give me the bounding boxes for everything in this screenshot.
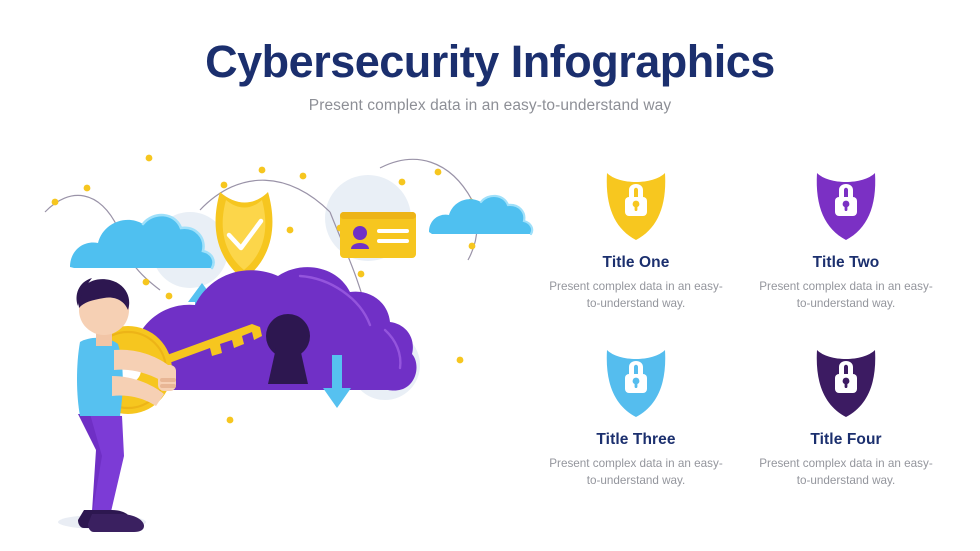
- feature-card-description: Present complex data in an easy-to-under…: [547, 456, 725, 490]
- feature-card-title: Title Two: [746, 254, 946, 272]
- keyhole-icon: [266, 314, 310, 384]
- id-card-icon: [340, 212, 416, 258]
- shield-lock-icon: [536, 339, 736, 419]
- shield-lock-icon: [746, 339, 946, 419]
- feature-card-title-four[interactable]: Title Four Present complex data in an ea…: [746, 339, 946, 490]
- slide-canvas: Cybersecurity Infographics Present compl…: [0, 0, 980, 551]
- feature-card-title-two[interactable]: Title Two Present complex data in an eas…: [746, 162, 946, 313]
- feature-card-title: Title Four: [746, 431, 946, 449]
- feature-cards-grid: Title One Present complex data in an eas…: [536, 162, 956, 490]
- feature-card-title-one[interactable]: Title One Present complex data in an eas…: [536, 162, 736, 313]
- feature-card-description: Present complex data in an easy-to-under…: [757, 279, 935, 313]
- header: Cybersecurity Infographics Present compl…: [0, 38, 980, 115]
- shield-lock-icon: [746, 162, 946, 242]
- feature-card-title: Title Three: [536, 431, 736, 449]
- page-title: Cybersecurity Infographics: [0, 38, 980, 85]
- page-subtitle: Present complex data in an easy-to-under…: [0, 97, 980, 115]
- cloud-security-key-illustration: [40, 150, 540, 540]
- feature-card-title-three[interactable]: Title Three Present complex data in an e…: [536, 339, 736, 490]
- feature-card-description: Present complex data in an easy-to-under…: [547, 279, 725, 313]
- feature-card-title: Title One: [536, 254, 736, 272]
- gold-shield-check-icon: [216, 192, 273, 280]
- blue-cloud-right: [429, 196, 532, 234]
- shield-lock-icon: [536, 162, 736, 242]
- feature-card-description: Present complex data in an easy-to-under…: [757, 456, 935, 490]
